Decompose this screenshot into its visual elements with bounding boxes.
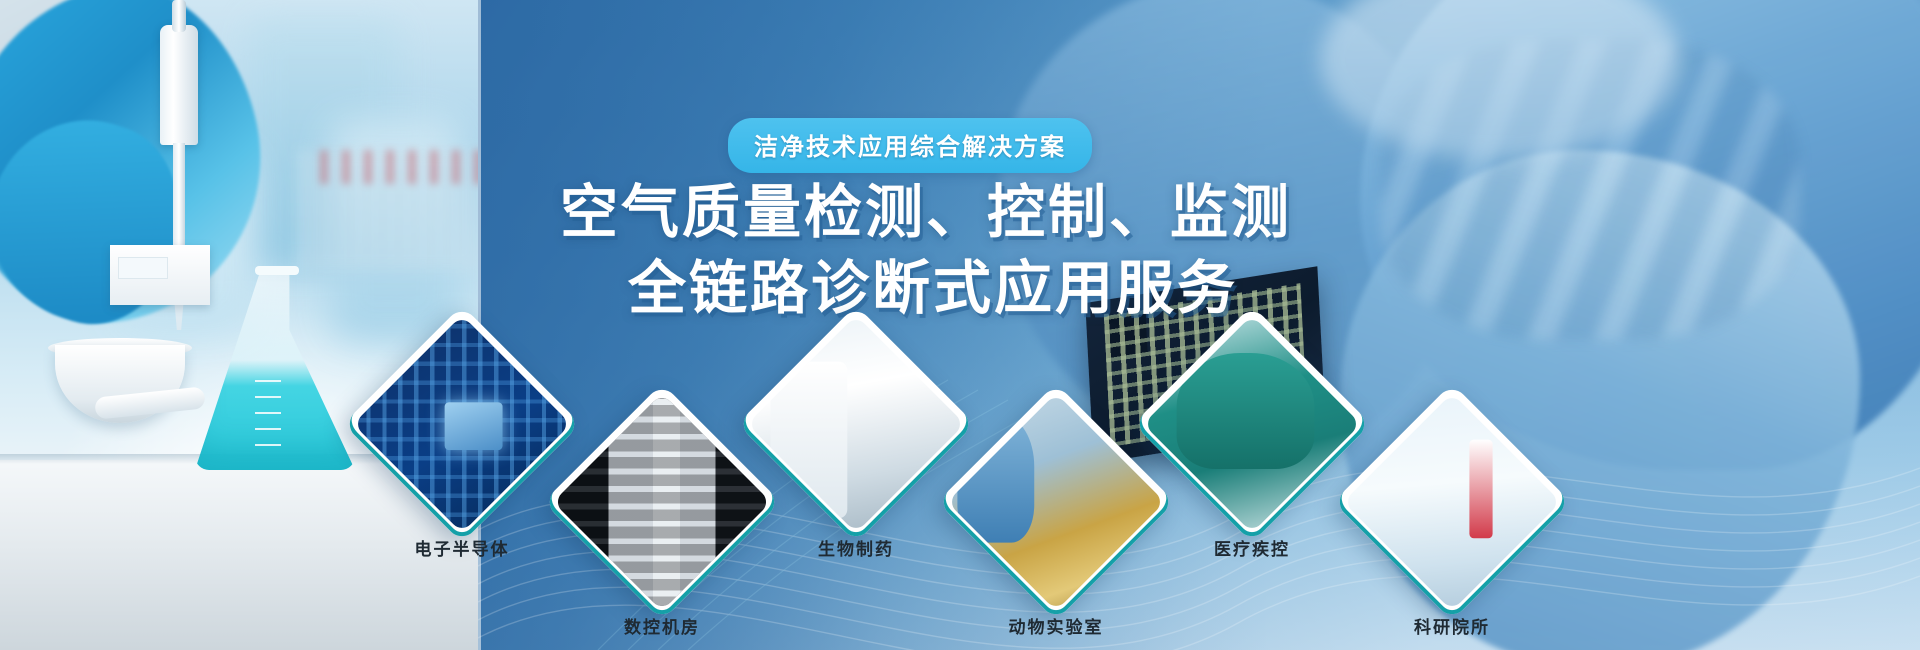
card-label: 数控机房 [624,613,700,638]
card-label: 医疗疾控 [1214,535,1290,560]
card-photo [1143,315,1361,533]
card-electronics-semiconductor[interactable]: 电子半导体 [378,340,546,508]
card-photo [747,315,965,533]
card-photo [1343,393,1561,611]
hero-banner: 洁净技术应用综合解决方案 空气质量检测、控制、监测 全链路诊断式应用服务 电子半… [0,0,1920,650]
card-data-center[interactable]: 数控机房 [578,418,746,586]
card-label: 动物实验室 [1009,613,1104,638]
card-photo [553,393,771,611]
industry-card-row: 电子半导体 数控机房 生物制药 动物实验室 医疗疾控 [0,0,1920,650]
card-biopharma[interactable]: 生物制药 [772,340,940,508]
card-photo [353,315,571,533]
card-medical-cdc[interactable]: 医疗疾控 [1168,340,1336,508]
card-label: 科研院所 [1414,613,1490,638]
card-label: 电子半导体 [415,535,510,560]
card-research-institute[interactable]: 科研院所 [1368,418,1536,586]
card-label: 生物制药 [818,535,894,560]
card-animal-lab[interactable]: 动物实验室 [972,418,1140,586]
card-photo [947,393,1165,611]
